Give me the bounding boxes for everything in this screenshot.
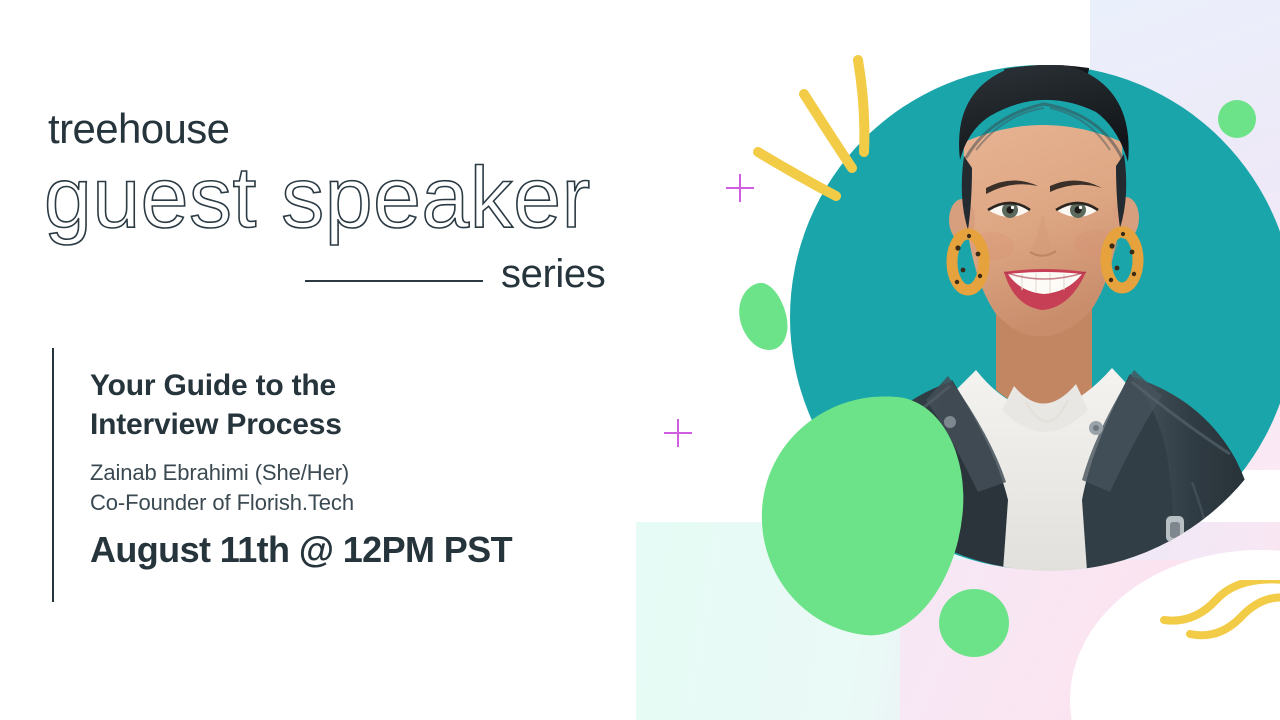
- brand-wordmark: treehouse: [48, 108, 229, 150]
- squiggle-lines-icon: [1160, 580, 1280, 670]
- green-circle: [939, 589, 1009, 657]
- sparkle-rays-icon: [740, 30, 900, 210]
- green-bean-blob: [732, 278, 793, 355]
- series-row: series: [305, 252, 625, 304]
- speaker-name: Zainab Ebrahimi (She/Her): [90, 458, 630, 488]
- series-divider: [305, 280, 483, 282]
- event-datetime: August 11th @ 12PM PST: [90, 529, 630, 571]
- plus-mark-icon: [664, 419, 692, 447]
- event-title-line2: Interview Process: [90, 405, 630, 444]
- speaker-role: Co-Founder of Florish.Tech: [90, 488, 630, 518]
- event-info: Your Guide to the Interview Process Zain…: [90, 366, 630, 571]
- series-label: series: [501, 252, 605, 297]
- headline-guest-speaker: guest speaker: [44, 155, 591, 241]
- promo-graphic: treehouse guest speaker series Your Guid…: [0, 0, 1280, 720]
- event-title: Your Guide to the Interview Process: [90, 366, 630, 444]
- event-title-line1: Your Guide to the: [90, 366, 630, 405]
- vertical-accent-bar: [52, 348, 54, 602]
